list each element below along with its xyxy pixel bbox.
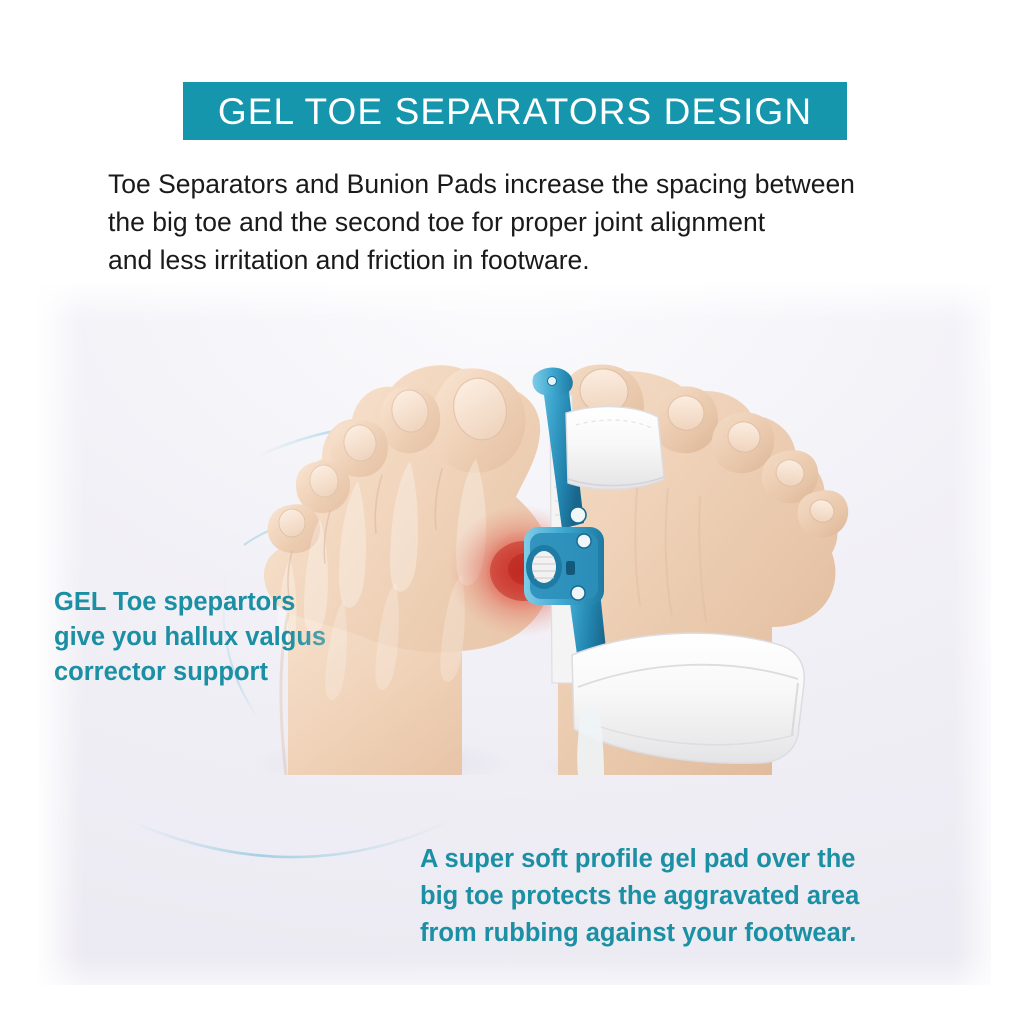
caption-left-line-2: give you hallux valgus: [54, 620, 484, 655]
splint-toe-strap: [566, 407, 664, 490]
product-photo-panel: GEL Toe spepartors give you hallux valgu…: [38, 283, 991, 985]
caption-left-line-3: corrector support: [54, 655, 484, 690]
title-banner: GEL TOE SEPARATORS DESIGN: [183, 82, 847, 140]
product-infographic-page: GEL TOE SEPARATORS DESIGN Toe Separators…: [0, 0, 1024, 1024]
caption-left-line-1: GEL Toe spepartors: [54, 585, 484, 620]
intro-line-3: and less irritation and friction in foot…: [108, 241, 968, 279]
intro-line-2: the big toe and the second toe for prope…: [108, 203, 968, 241]
foot-with-bunion-splint: [524, 364, 848, 791]
splint-rivet-bottom: [571, 586, 585, 600]
splint-hinge-pin: [570, 507, 586, 523]
caption-right-line-1: A super soft profile gel pad over the: [420, 841, 960, 878]
caption-right: A super soft profile gel pad over the bi…: [420, 841, 960, 952]
caption-right-line-2: big toe protects the aggravated area: [420, 878, 960, 915]
splint-hinge: [524, 527, 604, 605]
intro-line-1: Toe Separators and Bunion Pads increase …: [108, 165, 968, 203]
caption-right-line-3: from rubbing against your footwear.: [420, 915, 960, 952]
caption-left: GEL Toe spepartors give you hallux valgu…: [54, 585, 484, 690]
page-title: GEL TOE SEPARATORS DESIGN: [218, 93, 812, 130]
splint-rivet-top: [577, 534, 591, 548]
intro-paragraph: Toe Separators and Bunion Pads increase …: [108, 165, 968, 279]
